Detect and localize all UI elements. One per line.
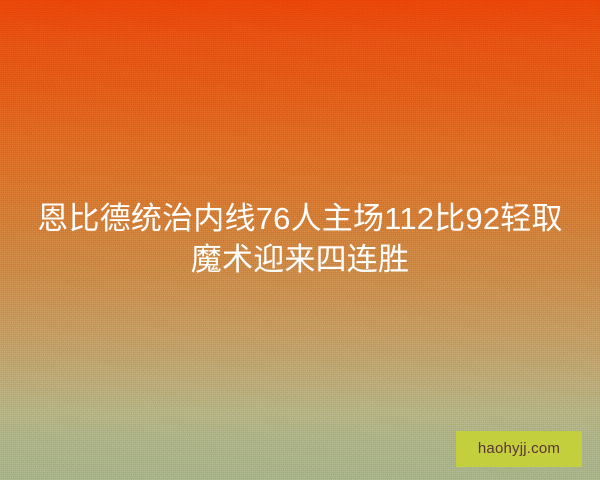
- news-image-card: 恩比德统治内线76人主场112比92轻取 魔术迎来四连胜 haohyjj.com: [0, 0, 600, 480]
- watermark-badge: haohyjj.com: [456, 431, 582, 467]
- headline-text: 恩比德统治内线76人主场112比92轻取 魔术迎来四连胜: [0, 198, 600, 280]
- watermark-label: haohyjj.com: [478, 441, 560, 457]
